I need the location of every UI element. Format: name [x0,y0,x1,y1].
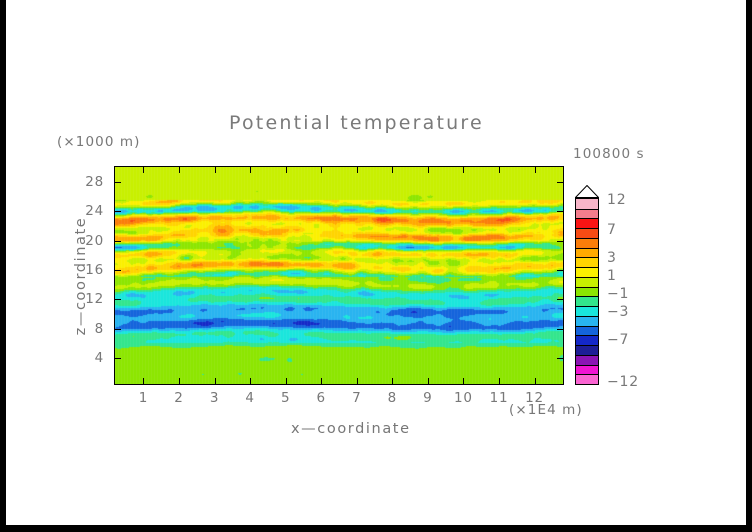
x-axis-tick [250,378,251,384]
colorbar-band-divider [576,238,598,239]
contour-field [115,167,563,384]
x-axis-ticklabel: 3 [210,390,219,406]
colorbar-ticklabel: 12 [607,192,626,208]
x-axis-tick [321,167,322,173]
x-axis-tick [143,167,144,173]
y-axis-tick [115,270,121,271]
y-axis-tick [557,358,563,359]
colorbar-band-divider [576,209,598,210]
x-axis-ticklabel: 12 [525,390,544,406]
x-axis-ticklabel: 4 [245,390,254,406]
colorbar-band-divider [576,248,598,249]
y-axis-tick [557,182,563,183]
y-axis-tick [557,241,563,242]
x-axis-tick [428,378,429,384]
colorbar-band-divider [576,257,598,258]
y-axis-ticklabel: 4 [64,350,104,366]
x-axis-tick [357,378,358,384]
x-axis-ticklabel: 10 [454,390,473,406]
y-axis-ticklabel: 28 [64,174,104,190]
colorbar-band-divider [576,287,598,288]
x-axis-ticklabel: 9 [423,390,432,406]
y-axis-ticklabel: 12 [64,291,104,307]
x-axis-ticklabel: 11 [490,390,509,406]
figure-canvas: Potential temperature (×1000 m) (×1E4 m)… [6,0,746,525]
x-axis-ticklabel: 6 [317,390,326,406]
x-axis-ticklabel: 2 [174,390,183,406]
y-axis-tick [115,358,121,359]
colorbar-ticklabel: 7 [607,222,617,238]
colorbar-band-divider [576,355,598,356]
x-axis-ticklabel: 5 [281,390,290,406]
colorbar-band-divider [576,218,598,219]
colorbar-band-divider [576,335,598,336]
y-axis-ticklabel: 16 [64,262,104,278]
y-axis-tick [115,211,121,212]
colorbar-band-divider [576,316,598,317]
y-axis-tick [557,270,563,271]
colorbar: 12731−1−3−7−12 [575,198,599,385]
x-axis-tick [286,167,287,173]
colorbar-band-divider [576,326,598,327]
x-axis-ticklabel: 8 [388,390,397,406]
colorbar-band-divider [576,267,598,268]
colorbar-band [576,374,598,384]
x-axis-tick [463,378,464,384]
colorbar-ticklabel: −12 [607,374,639,390]
colorbar-band-divider [576,374,598,375]
x-axis-tick [215,378,216,384]
y-axis-tick [115,241,121,242]
colorbar-band-divider [576,277,598,278]
y-axis-tick [557,299,563,300]
y-axis-ticklabel: 20 [64,233,104,249]
colorbar-band-divider [576,306,598,307]
x-axis-tick [321,378,322,384]
y-axis-tick [557,329,563,330]
x-axis-tick [143,378,144,384]
colorbar-band-divider [576,365,598,366]
contour-plot-area [114,166,564,385]
y-axis-tick [115,299,121,300]
x-axis-unit-label: (×1E4 m) [509,402,583,418]
y-axis-ticklabel: 8 [64,321,104,337]
x-axis-tick [357,167,358,173]
x-axis-tick [250,167,251,173]
colorbar-band-divider [576,296,598,297]
colorbar-ticklabel: −1 [607,286,629,302]
y-axis-tick [557,211,563,212]
x-axis-tick [499,378,500,384]
y-axis-ticklabel: 24 [64,203,104,219]
x-axis-ticklabel: 7 [352,390,361,406]
colorbar-band-divider [576,345,598,346]
x-axis-tick [215,167,216,173]
timestamp-label: 100800 s [573,146,645,162]
x-axis-tick [392,167,393,173]
colorbar-arrow-cap-icon [575,185,599,198]
colorbar-band-divider [576,228,598,229]
x-axis-tick [179,167,180,173]
colorbar-ticklabel: 3 [607,250,617,266]
x-axis-tick [535,378,536,384]
x-axis-tick [428,167,429,173]
x-axis-ticklabel: 1 [139,390,148,406]
colorbar-ticklabel: 1 [607,268,617,284]
x-axis-tick [392,378,393,384]
x-axis-tick [179,378,180,384]
x-axis-tick [286,378,287,384]
page-title: Potential temperature [229,112,484,134]
y-axis-unit-label: (×1000 m) [57,134,141,150]
x-axis-tick [535,167,536,173]
colorbar-ticklabel: −7 [607,332,629,348]
colorbar-ticklabel: −3 [607,304,629,320]
colorbar-bands [575,198,599,385]
x-axis-title: x—coordinate [291,421,411,437]
y-axis-tick [115,329,121,330]
x-axis-tick [463,167,464,173]
y-axis-tick [115,182,121,183]
x-axis-tick [499,167,500,173]
